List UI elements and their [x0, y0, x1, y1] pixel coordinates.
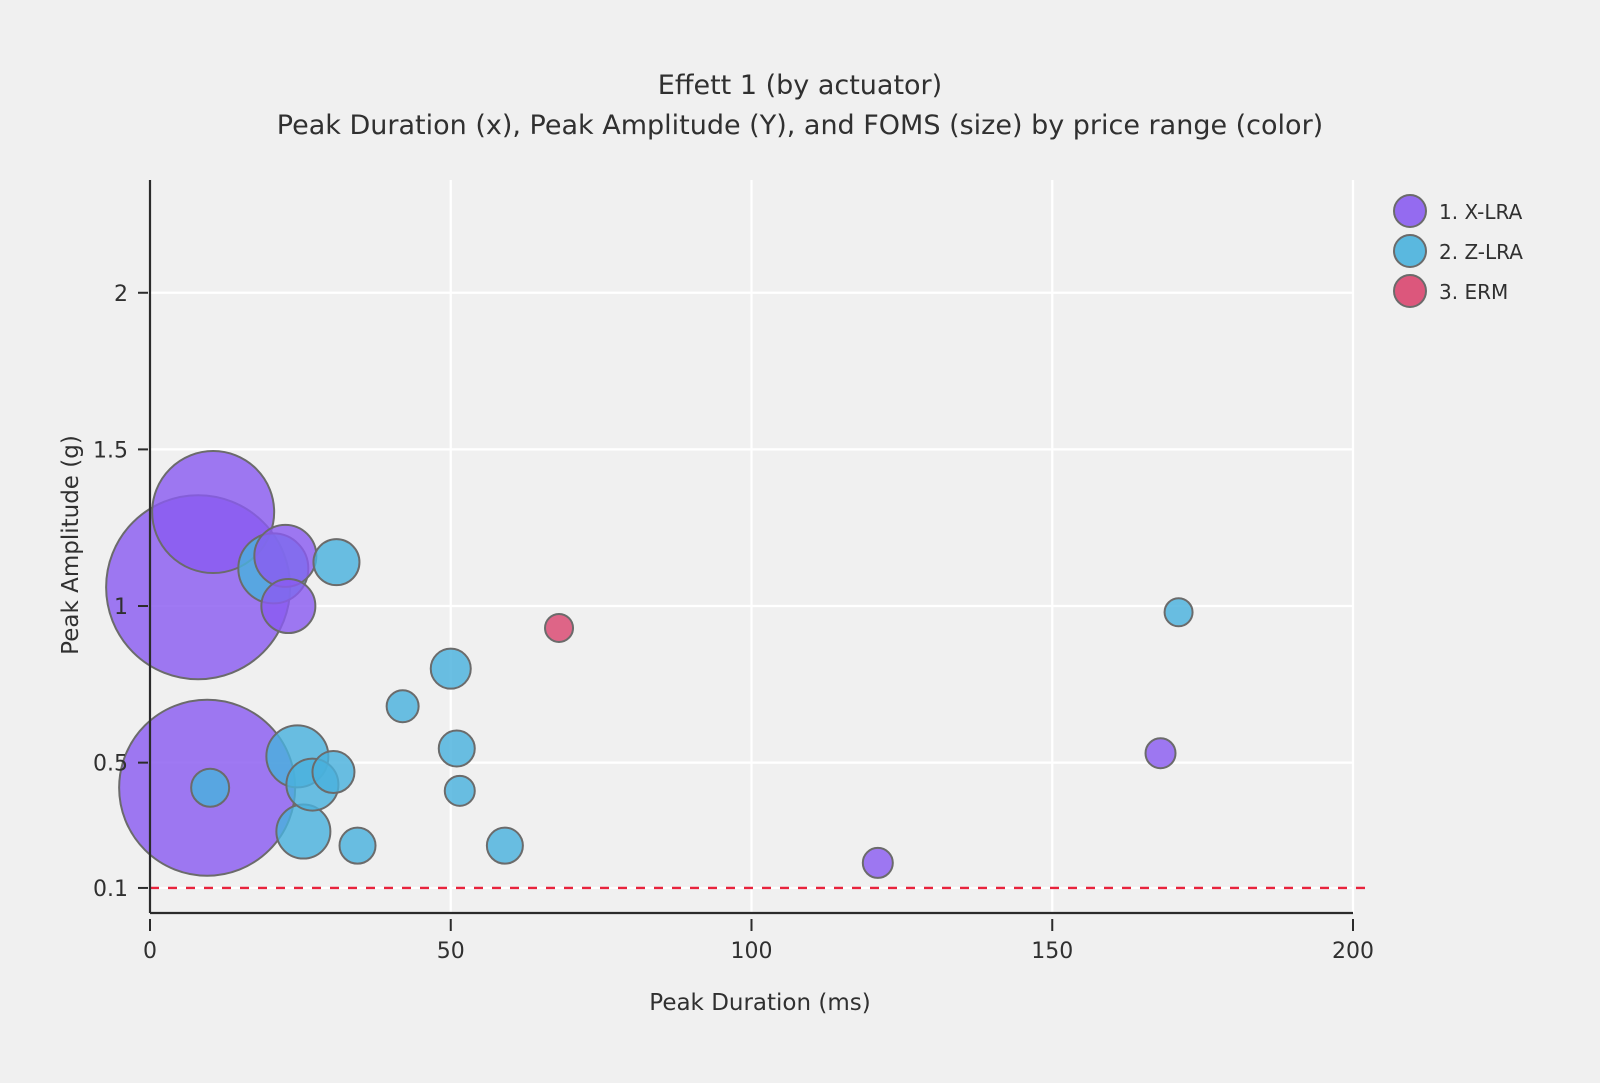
- chart-title: Effett 1 (by actuator): [658, 70, 942, 101]
- x-tick-label: 50: [437, 939, 465, 964]
- x-tick-label: 100: [731, 939, 773, 964]
- data-point-bubble[interactable]: [1146, 738, 1176, 768]
- data-point-bubble[interactable]: [276, 805, 330, 859]
- data-point-bubble[interactable]: [191, 769, 229, 807]
- x-axis-label: Peak Duration (ms): [649, 990, 870, 1016]
- data-point-bubble[interactable]: [387, 690, 419, 722]
- data-point-bubble[interactable]: [1165, 598, 1193, 626]
- legend-item-label[interactable]: 2. Z-LRA: [1439, 240, 1523, 264]
- y-tick-label: 1: [114, 595, 128, 620]
- bubble-chart: Effett 1 (by actuator) Peak Duration (x)…: [0, 0, 1600, 1083]
- y-tick-label: 1.5: [93, 438, 128, 463]
- data-point-bubble[interactable]: [863, 848, 893, 878]
- data-point-bubble[interactable]: [431, 649, 471, 689]
- data-point-bubble[interactable]: [340, 828, 376, 864]
- data-point-bubble[interactable]: [487, 828, 523, 864]
- y-tick-label: 0.5: [93, 752, 128, 777]
- y-tick-label: 2: [114, 282, 128, 307]
- data-point-bubble[interactable]: [312, 751, 354, 793]
- data-point-bubble[interactable]: [445, 776, 475, 806]
- x-tick-label: 0: [143, 939, 157, 964]
- legend: 1. X-LRA2. Z-LRA3. ERM: [1394, 195, 1523, 307]
- data-point-bubble[interactable]: [313, 539, 359, 585]
- y-axis-label: Peak Amplitude (g): [58, 435, 84, 655]
- chart-subtitle: Peak Duration (x), Peak Amplitude (Y), a…: [277, 110, 1323, 141]
- x-tick-label: 150: [1031, 939, 1073, 964]
- legend-color-swatch[interactable]: [1394, 275, 1426, 307]
- chart-container: Effett 1 (by actuator) Peak Duration (x)…: [0, 0, 1600, 1083]
- data-point-bubble[interactable]: [545, 614, 573, 642]
- legend-color-swatch[interactable]: [1394, 195, 1426, 227]
- y-tick-label: 0.1: [93, 877, 128, 902]
- legend-color-swatch[interactable]: [1394, 235, 1426, 267]
- x-tick-label: 200: [1332, 939, 1374, 964]
- legend-item-label[interactable]: 3. ERM: [1439, 280, 1508, 304]
- legend-item-label[interactable]: 1. X-LRA: [1439, 200, 1523, 224]
- data-point-bubble[interactable]: [439, 731, 475, 767]
- data-point-bubble[interactable]: [261, 579, 315, 633]
- data-point-bubble[interactable]: [254, 525, 316, 587]
